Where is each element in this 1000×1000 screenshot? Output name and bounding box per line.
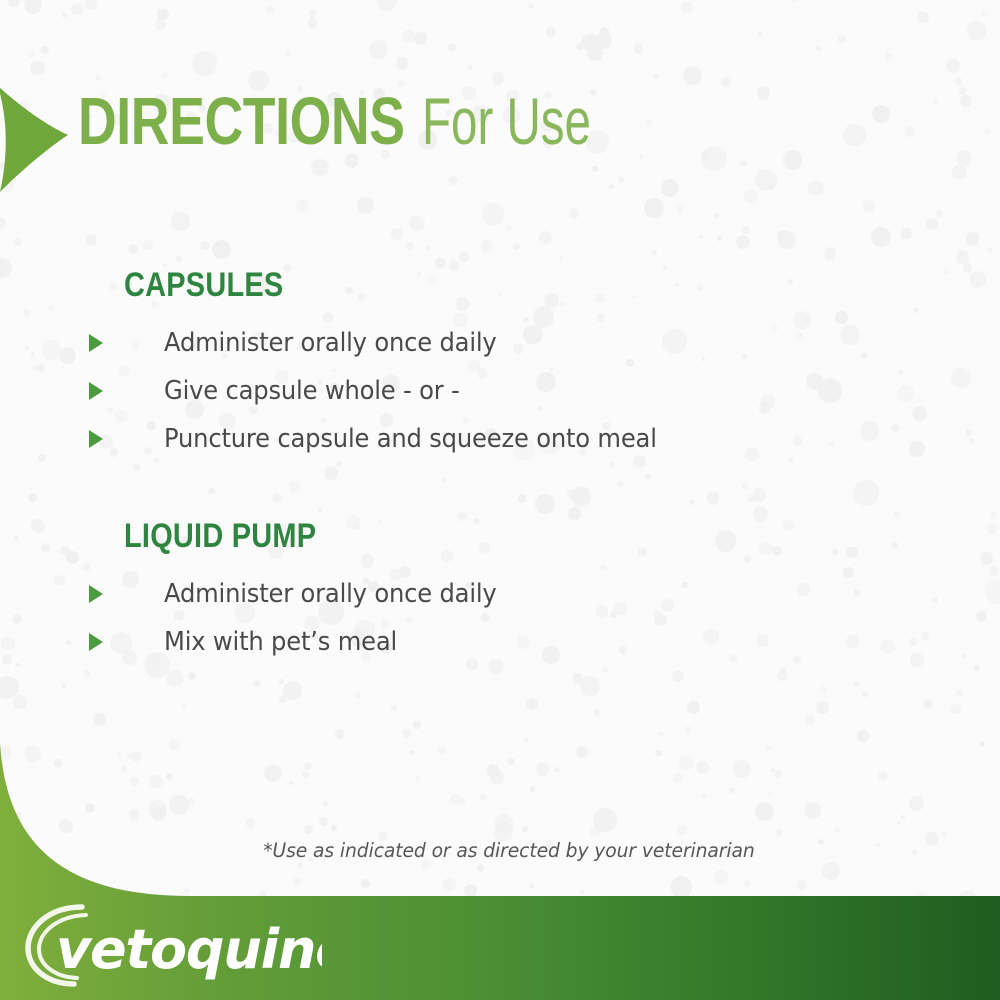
- section-heading-liquid-pump: LIQUID PUMP: [124, 519, 316, 553]
- list-item: Administer orally once daily: [124, 328, 683, 358]
- vetoquinol-logo: vetoquinoL: [22, 900, 322, 988]
- list-item-label: Give capsule whole - or -: [164, 376, 460, 406]
- triangle-bullet-icon: [89, 334, 103, 352]
- triangle-bullet-icon: [89, 430, 103, 448]
- page-title-bold: DIRECTIONS: [78, 88, 405, 155]
- footnote-text: *Use as indicated or as directed by your…: [263, 839, 754, 862]
- triangle-bullet-icon: [89, 633, 103, 651]
- list-item: Puncture capsule and squeeze onto meal: [124, 424, 683, 454]
- capsules-bullet-list: Administer orally once daily Give capsul…: [124, 328, 683, 454]
- footnote: *Use as indicated or as directed by your…: [0, 839, 1000, 862]
- page-title-light: For Use: [422, 88, 591, 154]
- brand-wordmark: vetoquinoL: [56, 918, 322, 981]
- liquid-pump-bullet-list: Administer orally once daily Mix with pe…: [124, 579, 514, 657]
- list-item-label: Administer orally once daily: [164, 328, 497, 358]
- section-liquid-pump: LIQUID PUMP Administer orally once daily…: [124, 519, 514, 675]
- list-item-label: Mix with pet’s meal: [164, 627, 397, 657]
- arrow-right-icon: [0, 78, 74, 196]
- list-item: Give capsule whole - or -: [124, 376, 683, 406]
- list-item-label: Administer orally once daily: [164, 579, 497, 609]
- page-title: DIRECTIONSFor Use: [78, 88, 657, 155]
- list-item: Mix with pet’s meal: [124, 627, 514, 657]
- triangle-bullet-icon: [89, 382, 103, 400]
- section-heading-capsules: CAPSULES: [124, 268, 283, 302]
- list-item: Administer orally once daily: [124, 579, 514, 609]
- directions-for-use-panel: DIRECTIONSFor Use CAPSULES Administer or…: [0, 0, 1000, 1000]
- list-item-label: Puncture capsule and squeeze onto meal: [164, 424, 657, 454]
- section-capsules: CAPSULES Administer orally once daily Gi…: [124, 268, 683, 472]
- triangle-bullet-icon: [89, 585, 103, 603]
